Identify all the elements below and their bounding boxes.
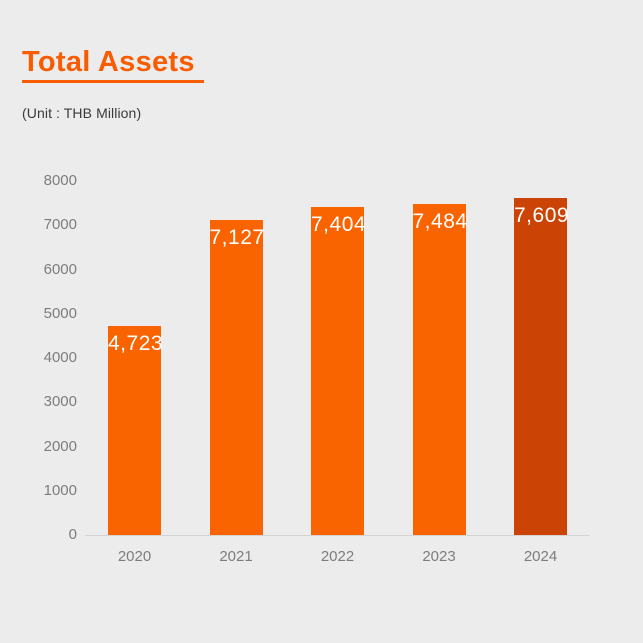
- x-axis-tick-label: 2021: [191, 548, 281, 566]
- bar-value-label: 7,484: [413, 210, 466, 234]
- y-axis-tick-label: 6000: [17, 262, 77, 277]
- bar-chart: 800070006000500040003000200010000 4,7237…: [0, 0, 643, 643]
- bar-value-label: 4,723: [108, 332, 161, 356]
- y-axis-tick-label: 8000: [17, 173, 77, 188]
- y-axis-tick-label: 3000: [17, 394, 77, 409]
- y-axis-tick-label: 5000: [17, 306, 77, 321]
- y-axis-tick-label: 1000: [17, 483, 77, 498]
- bar-2024[interactable]: 7,609: [514, 198, 567, 535]
- bar-value-label: 7,404: [311, 213, 364, 237]
- y-axis-tick-label: 2000: [17, 439, 77, 454]
- chart-page: Total Assets (Unit : THB Million) 800070…: [0, 0, 643, 643]
- bar-2020[interactable]: 4,723: [108, 326, 161, 535]
- x-axis-tick-label: 2023: [394, 548, 484, 566]
- x-axis-line: [85, 535, 590, 536]
- y-axis-tick-label: 4000: [17, 350, 77, 365]
- x-axis-tick-label: 2022: [293, 548, 383, 566]
- bar-2023[interactable]: 7,484: [413, 204, 466, 535]
- x-axis-tick-label: 2024: [496, 548, 586, 566]
- bar-2021[interactable]: 7,127: [210, 220, 263, 535]
- bar-value-label: 7,609: [514, 204, 567, 228]
- x-axis-tick-label: 2020: [90, 548, 180, 566]
- y-axis-tick-label: 7000: [17, 217, 77, 232]
- y-axis-tick-label: 0: [17, 527, 77, 542]
- bar-value-label: 7,127: [210, 226, 263, 250]
- bar-2022[interactable]: 7,404: [311, 207, 364, 535]
